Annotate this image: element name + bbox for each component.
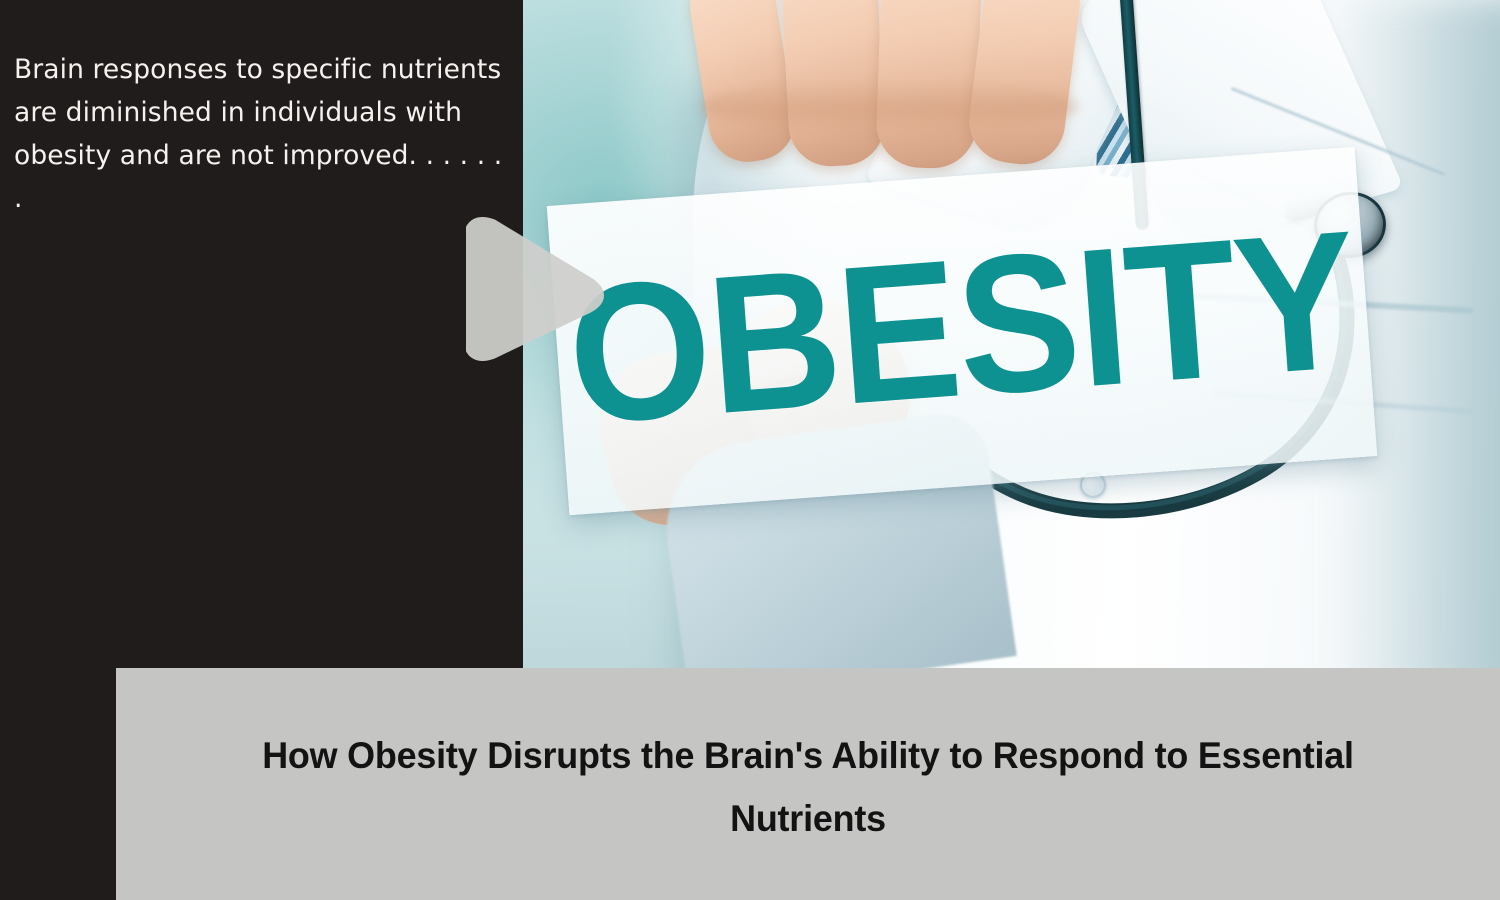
play-triangle-icon[interactable] — [466, 214, 604, 364]
obesity-sign-card: OBESITY — [547, 147, 1378, 515]
article-headline: How Obesity Disrupts the Brain's Ability… — [207, 724, 1410, 850]
obesity-sign-word: OBESITY — [563, 215, 1360, 441]
knuckle-shading — [701, 78, 1079, 134]
teaser-text: Brain responses to specific nutrients ar… — [14, 48, 514, 220]
article-photo: OBESITY — [523, 0, 1500, 668]
article-card: Brain responses to specific nutrients ar… — [0, 0, 1500, 900]
caption-bar: How Obesity Disrupts the Brain's Ability… — [116, 668, 1500, 900]
